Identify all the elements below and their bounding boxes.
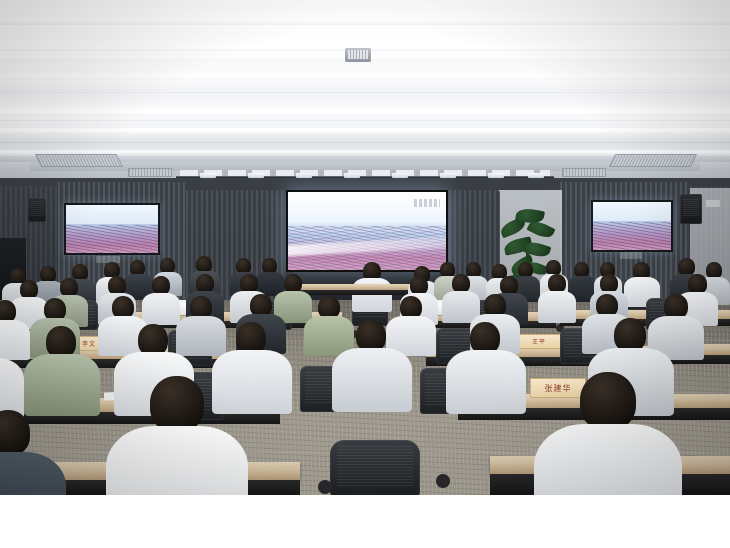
nameplate-text: 李文 <box>82 339 96 348</box>
ceiling-grid-line <box>0 142 730 143</box>
ceiling-grid-line <box>0 120 730 121</box>
ceiling-grid-line <box>0 92 730 93</box>
right-display-wall-plate <box>620 252 642 259</box>
nameplate-text: 张建华 <box>545 383 572 394</box>
conference-room-photo: 李文 王平 <box>0 0 730 495</box>
wall-sign-right <box>706 200 720 207</box>
side-screen-sky <box>66 205 158 226</box>
plant-leaf <box>526 218 555 241</box>
ceiling-air-vent <box>128 168 172 177</box>
nameplate-front-right: 张建华 <box>530 378 586 398</box>
side-screen-sky <box>593 202 671 223</box>
side-screen-texture <box>593 222 671 250</box>
chair-caster <box>436 474 450 488</box>
screen-watermark <box>414 199 440 207</box>
ceiling-light-strip <box>0 108 730 116</box>
chair <box>330 440 420 495</box>
wall-speaker-left <box>28 198 46 222</box>
ceiling-light-strip <box>0 74 730 80</box>
ceiling-air-vent <box>562 168 606 177</box>
wall-speaker-right <box>680 194 702 224</box>
ceiling-air-vent <box>35 154 123 167</box>
main-led-screen[interactable] <box>286 190 448 272</box>
chair-caster <box>318 480 332 494</box>
ceiling-mount-grille <box>348 50 368 59</box>
left-side-display[interactable] <box>64 203 160 255</box>
ceiling-light-strip <box>0 128 730 133</box>
right-side-display[interactable] <box>591 200 673 252</box>
ceiling-light-strip <box>0 16 730 25</box>
nameplate-mid-right: 王平 <box>516 334 562 349</box>
nameplate-text: 王平 <box>532 337 546 346</box>
side-screen-texture <box>66 225 158 253</box>
table-front-panel <box>300 290 420 295</box>
ceiling-air-vent <box>609 154 697 167</box>
